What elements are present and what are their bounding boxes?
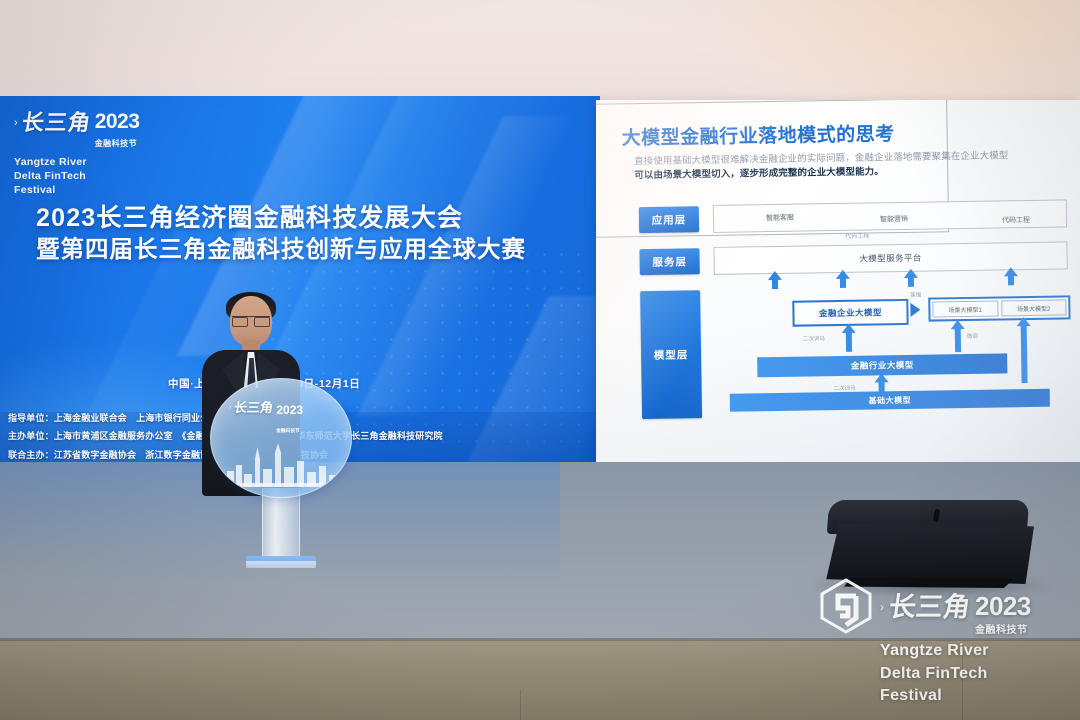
logo-festival-cn: 金融科技节 [95, 139, 138, 148]
application-item: 智能营销 [880, 214, 908, 224]
application-item: 智能客服 [766, 213, 794, 223]
monitor-grille-face [822, 524, 1034, 584]
logo-english-line3: Festival [14, 184, 204, 198]
scene-model-box: 场景大模型2 [1001, 299, 1067, 316]
flow-arrow-stem [908, 277, 914, 287]
festival-watermark: › 长三角 2023 金融科技节 Yangtze River Delta Fin… [818, 578, 1074, 716]
floor-tile-line [520, 690, 521, 720]
application-sub-item: 代码工程 [845, 231, 869, 240]
backdrop-title-line2: 暨第四届长三角金融科技创新与应用全球大赛 [36, 234, 556, 265]
slide-title: 大模型金融行业落地模式的思考 [621, 119, 894, 150]
watermark-english-line3: Festival [880, 685, 989, 708]
application-layer-row: 智能客服 智能营销 代码工程 [713, 199, 1067, 233]
flow-arrow-up-icon [874, 373, 888, 382]
application-item: 代码工程 [1002, 215, 1030, 225]
watermark-arrow-icon: › [880, 594, 884, 620]
backdrop-title-line1: 2023长三角经济圈金融科技发展大会 [36, 202, 556, 234]
flow-arrow-stem [772, 279, 778, 289]
service-platform-label: 大模型服务平台 [859, 252, 921, 265]
watermark-festival-cn: 金融科技节 [975, 625, 1028, 636]
backdrop-title: 2023长三角经济圈金融科技发展大会 暨第四届长三角金融科技创新与应用全球大赛 [36, 202, 556, 265]
city-skyline-icon [223, 441, 339, 487]
logo-english-line1: Yangtze River [14, 156, 204, 170]
backdrop-festival-logo: › 长三角 2023 金融科技节 Yangtze River Delta Fin… [14, 112, 204, 198]
flow-note-finetune: 微调 [967, 332, 978, 340]
podium-emblem-disc: › 长三角 2023 金融科技节 [210, 378, 352, 498]
flow-arrow-right-icon [910, 303, 920, 317]
podium-logo-year: 2023 [276, 403, 303, 417]
acrylic-podium: › 长三角 2023 金融科技节 [210, 378, 350, 568]
podium-stem [262, 488, 300, 560]
slide-subtitle: 直接使用基础大模型很难解决金融企业的实际问题，金融企业落地需要聚集在企业大模型 … [634, 148, 1074, 183]
flow-arrow-stem [1021, 323, 1028, 383]
flow-arrow-up-icon [842, 324, 856, 333]
conference-stage-photo: › 长三角 2023 金融科技节 Yangtze River Delta Fin… [0, 0, 1080, 720]
hexagon-logo-icon [818, 578, 874, 634]
layer-label-model: 模型层 [640, 290, 702, 419]
logo-english-line2: Delta FinTech [14, 170, 204, 184]
flow-arrow-up-icon [768, 271, 782, 280]
scene-models-group: 场景大模型1 场景大模型2 [928, 295, 1070, 321]
flow-arrow-stem [840, 278, 846, 288]
podium-base-accent [246, 556, 316, 561]
flow-arrow-up-icon [951, 320, 965, 329]
podium-logo-arrow-icon: › [229, 401, 231, 415]
flow-arrow-stem [955, 326, 961, 352]
logo-year: 2023 [95, 110, 140, 133]
base-model-box: 基础大模型 [730, 389, 1050, 412]
scene-model-box: 场景大模型1 [932, 300, 998, 317]
flow-arrow-up-icon [1004, 267, 1018, 276]
logo-arrow-icon: › [14, 112, 18, 134]
flow-arrow-up-icon [836, 270, 850, 279]
layer-label-application: 应用层 [639, 206, 699, 233]
podium-logo-festival-cn: 金融科技节 [276, 428, 300, 433]
podium-festival-logo: › 长三角 2023 金融科技节 [229, 401, 335, 437]
watermark-year: 2023 [975, 591, 1031, 621]
speaker-glasses [232, 316, 270, 325]
podium-logo-chinese: 长三角 [233, 401, 274, 414]
flow-arrow-up-icon [1017, 317, 1031, 326]
watermark-chinese-name: 长三角 [887, 594, 972, 621]
slide-subtitle-line2: 可以由场景大模型切入，逐步形成完整的企业大模型能力。 [634, 167, 884, 182]
presentation-slide: 大模型金融行业落地模式的思考 直接使用基础大模型很难解决金融企业的实际问题，金融… [596, 100, 1080, 468]
watermark-english-line2: Delta FinTech [880, 663, 989, 686]
logo-chinese-name: 长三角 [20, 112, 92, 134]
enterprise-model-box: 金融企业大模型 [792, 299, 908, 327]
flow-note-secondary-training: 二次训马 [803, 334, 825, 342]
flow-note-distill: 蒸馏 [910, 291, 921, 299]
flow-arrow-stem [846, 330, 852, 352]
layer-label-service: 服务层 [639, 248, 699, 275]
projection-screen: 大模型金融行业落地模式的思考 直接使用基础大模型很难解决金融企业的实际问题，金融… [596, 100, 1080, 468]
flow-arrow-up-icon [904, 269, 918, 278]
watermark-english-line1: Yangtze River [880, 640, 989, 663]
flow-arrow-stem [1008, 275, 1014, 285]
